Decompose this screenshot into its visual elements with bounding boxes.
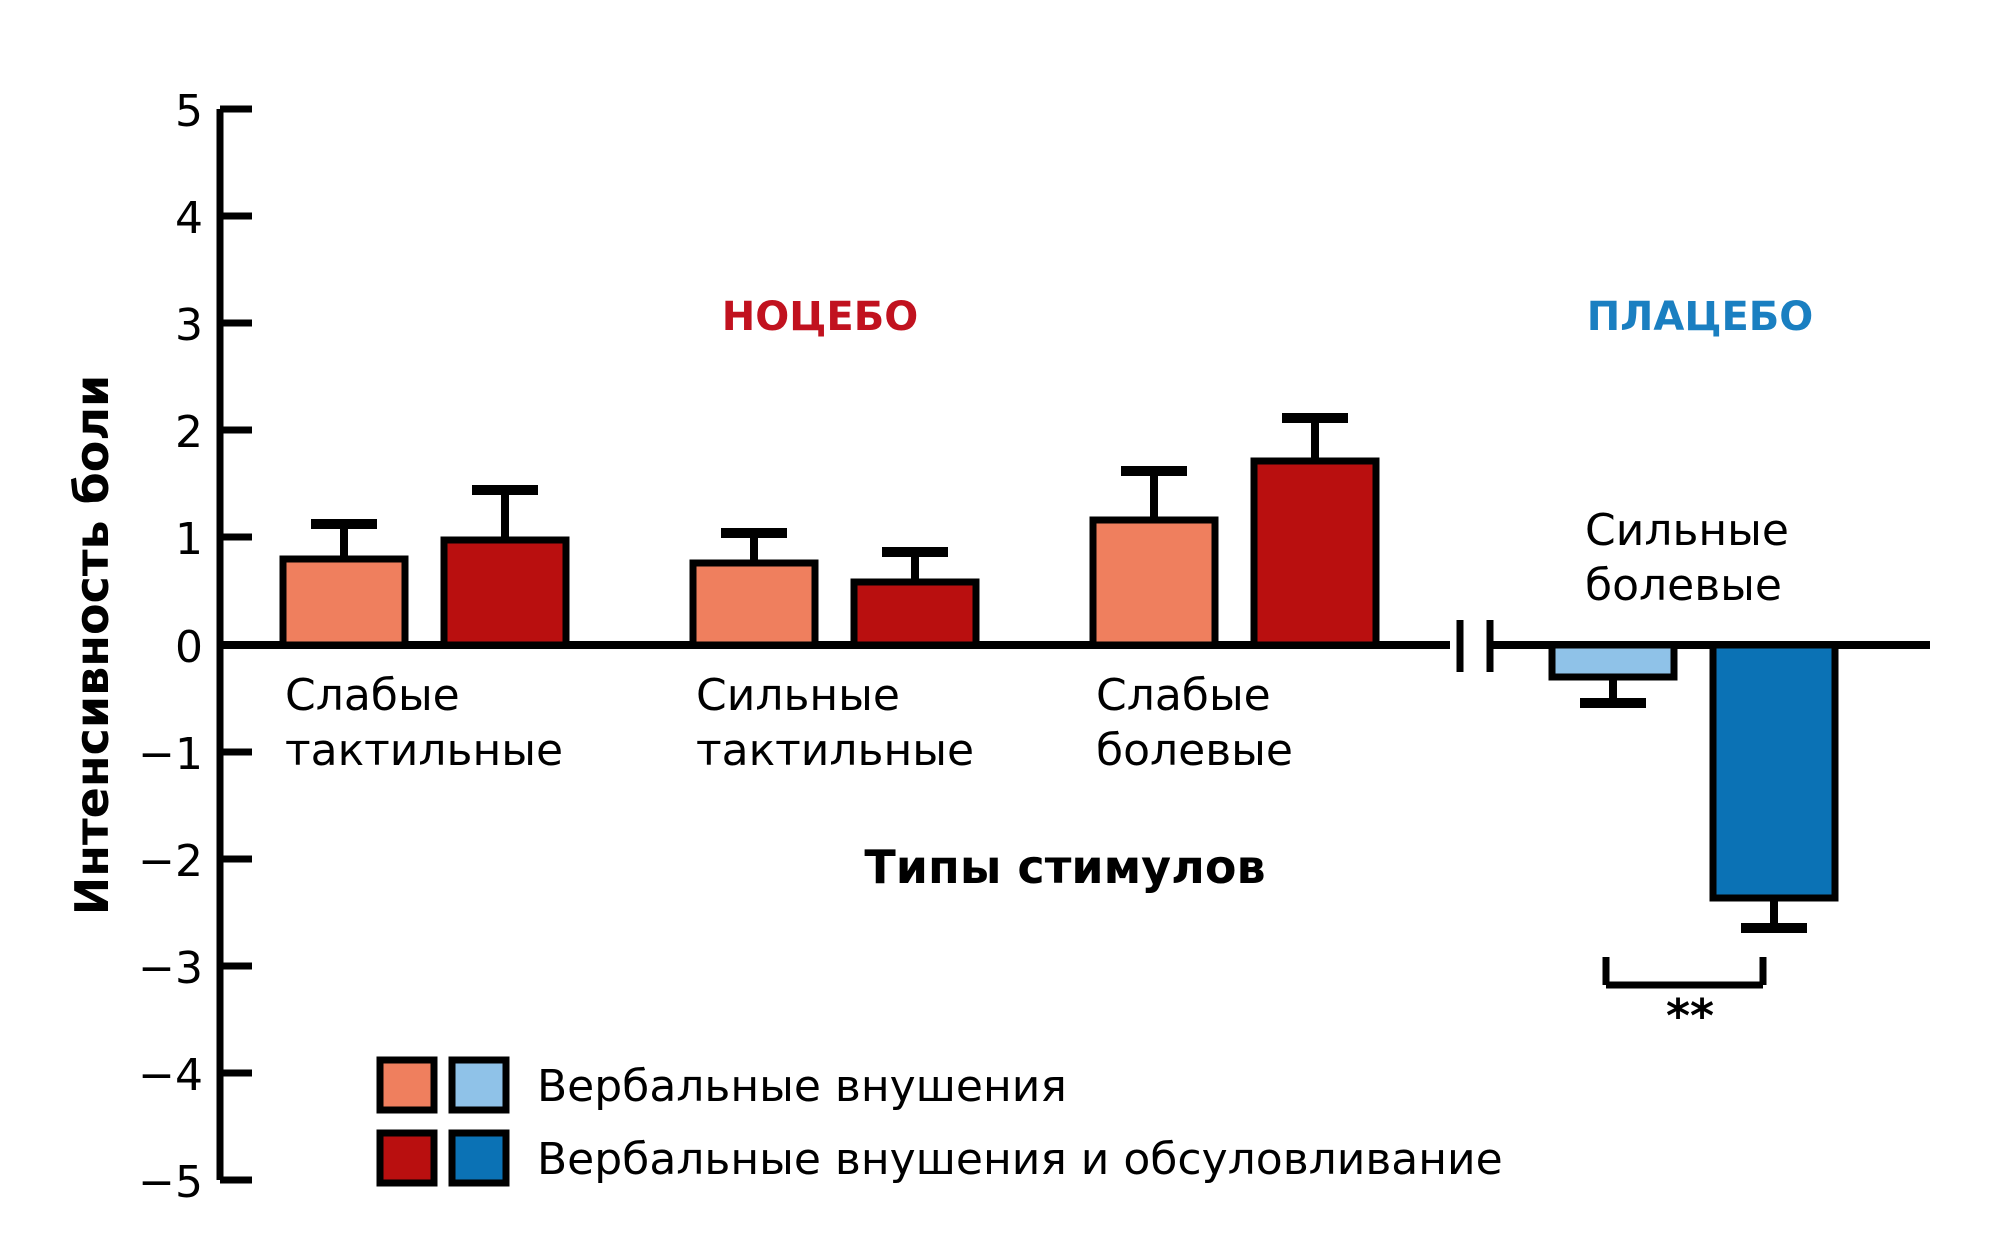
bar-verbal-strong-pain[interactable]: [1552, 645, 1674, 677]
cat-weak-pain-line2: болевые: [1096, 725, 1293, 776]
cat-weak-pain-line1: Слабые: [1096, 670, 1271, 721]
panel-label-placebo: ПЛАЦЕБО: [1587, 294, 1814, 340]
bar-conditioning-weak-pain[interactable]: [1254, 461, 1376, 645]
legend-swatch-conditioning-red: [380, 1133, 434, 1183]
y-tick-m1: −1: [138, 729, 203, 780]
y-tick-m4: −4: [138, 1050, 203, 1101]
y-tick-5: 5: [175, 86, 203, 137]
y-tick-4: 4: [175, 193, 203, 244]
bar-conditioning-strong-pain[interactable]: [1713, 645, 1835, 898]
legend-swatch-verbal-red: [380, 1060, 434, 1110]
x-axis-title: Типы стимулов: [864, 840, 1265, 894]
bar-group-strong-tactile: [693, 533, 976, 645]
y-tick-labels: 5 4 3 2 1 0 −1 −2 −3 −4 −5: [138, 86, 203, 1208]
y-tick-m2: −2: [138, 836, 203, 887]
cat-strong-pain-line1: Сильные: [1585, 505, 1789, 556]
errorbar-verbal-weak-pain: [1121, 471, 1187, 520]
cat-strong-pain-line2: болевые: [1585, 560, 1782, 611]
errorbar-conditioning-weak-pain: [1282, 418, 1348, 461]
bar-group-weak-tactile: [283, 490, 566, 645]
legend-swatch-verbal-blue: [452, 1060, 506, 1110]
y-tick-m5: −5: [138, 1157, 203, 1208]
legend-label-verbal: Вербальные внушения: [537, 1061, 1067, 1112]
legend-swatch-conditioning-blue: [452, 1133, 506, 1183]
cat-weak-tactile-line1: Слабые: [285, 670, 460, 721]
bar-verbal-weak-tactile[interactable]: [283, 559, 405, 645]
y-tick-1: 1: [175, 514, 203, 565]
significance-stars: **: [1666, 989, 1714, 1043]
significance-bracket: [1606, 957, 1763, 985]
errorbar-conditioning-strong-pain: [1741, 898, 1807, 928]
bar-conditioning-weak-tactile[interactable]: [444, 540, 566, 645]
cat-strong-tactile-line2: тактильные: [696, 725, 974, 776]
y-tick-3: 3: [175, 300, 203, 351]
y-tick-m3: −3: [138, 943, 203, 994]
y-tick-0: 0: [175, 622, 203, 673]
legend-label-conditioning: Вербальные внушения и обсуловливание: [537, 1134, 1503, 1185]
y-tick-2: 2: [175, 407, 203, 458]
errorbar-conditioning-strong-tactile: [882, 552, 948, 582]
panel-label-nocebo: НОЦЕБО: [722, 294, 918, 340]
axis-break-icon: [1460, 620, 1490, 672]
errorbar-verbal-strong-tactile: [721, 533, 787, 563]
chart-svg: 5 4 3 2 1 0 −1 −2 −3 −4 −5 Интенсивность…: [0, 0, 2000, 1260]
chart-figure: 5 4 3 2 1 0 −1 −2 −3 −4 −5 Интенсивность…: [0, 0, 2000, 1260]
errorbar-conditioning-weak-tactile: [472, 490, 538, 540]
errorbar-verbal-strong-pain: [1580, 677, 1646, 703]
errorbar-verbal-weak-tactile: [311, 524, 377, 559]
y-axis-title: Интенсивность боли: [65, 375, 119, 916]
cat-strong-tactile-line1: Сильные: [696, 670, 900, 721]
cat-weak-tactile-line2: тактильные: [285, 725, 563, 776]
bar-group-weak-pain: [1093, 418, 1376, 645]
bar-group-strong-pain: [1552, 645, 1835, 928]
bar-conditioning-strong-tactile[interactable]: [854, 582, 976, 645]
bar-verbal-strong-tactile[interactable]: [693, 563, 815, 645]
bar-verbal-weak-pain[interactable]: [1093, 520, 1215, 645]
legend: Вербальные внушения Вербальные внушения …: [380, 1060, 1503, 1185]
